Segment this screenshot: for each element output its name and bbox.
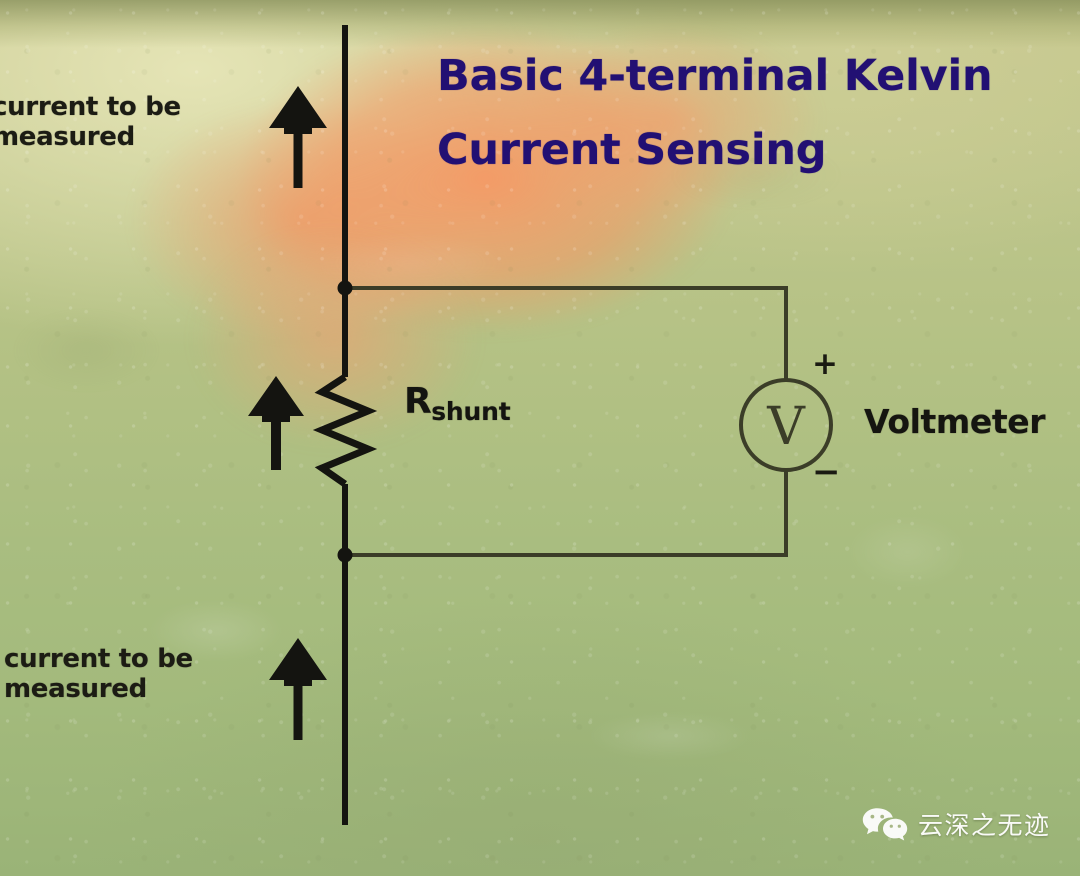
- shunt-resistor-label: Rshunt: [404, 381, 510, 426]
- watermark-text: 云深之无迹: [918, 806, 1051, 842]
- bottom-sense-wire: [345, 470, 786, 555]
- watermark: 云深之无迹: [862, 806, 1051, 842]
- image-canvas: V Basic 4-terminal Kelvin Current Sensin…: [0, 0, 1080, 876]
- page-title: Basic 4-terminal Kelvin Current Sensing: [437, 40, 1057, 188]
- wechat-icon: [862, 807, 908, 841]
- current-label-top-line1: current to be: [0, 92, 242, 122]
- polarity-minus-sign: −: [812, 455, 841, 489]
- current-arrow-middle-icon: [248, 376, 304, 470]
- current-label-bottom-line1: current to be: [4, 644, 254, 674]
- resistor-subscript: shunt: [431, 397, 510, 426]
- junction-dot-bottom: [338, 548, 353, 563]
- resistor-symbol: R: [404, 381, 431, 422]
- shunt-resistor-zigzag: [322, 377, 368, 484]
- polarity-plus-sign: +: [812, 349, 838, 380]
- junction-dot-top: [338, 281, 353, 296]
- top-sense-wire: [345, 288, 786, 380]
- current-label-bottom: current to be measured: [4, 644, 254, 704]
- current-label-top: current to be measured: [0, 92, 242, 152]
- title-line-1: Basic 4-terminal Kelvin: [437, 51, 992, 101]
- title-line-2: Current Sensing: [437, 114, 1057, 188]
- voltmeter-label: Voltmeter: [864, 402, 1045, 441]
- current-arrow-bottom-icon: [269, 638, 327, 740]
- current-label-bottom-line2: measured: [4, 674, 254, 704]
- voltmeter-v-glyph: V: [766, 397, 806, 457]
- current-label-top-line2: measured: [0, 122, 242, 152]
- current-arrow-top-icon: [269, 86, 327, 188]
